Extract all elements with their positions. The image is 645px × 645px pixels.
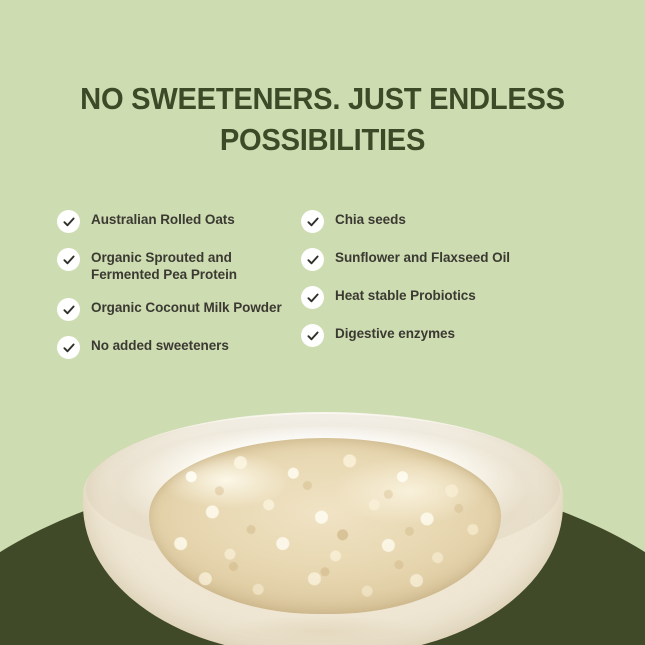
ingredients-checklist: Australian Rolled Oats Organic Sprouted … <box>0 209 645 373</box>
oat-texture-shadows <box>149 438 501 614</box>
check-icon <box>57 210 80 233</box>
list-item-label-line-2: Fermented Pea Protein <box>91 266 237 283</box>
check-icon <box>57 336 80 359</box>
list-item-label: Organic Sprouted and Fermented Pea Prote… <box>91 247 237 283</box>
list-item: Digestive enzymes <box>301 323 645 347</box>
product-feature-poster: NO SWEETENERS. JUST ENDLESS POSSIBILITIE… <box>0 0 645 645</box>
list-item-label: Sunflower and Flaxseed Oil <box>335 247 510 266</box>
list-item: Organic Sprouted and Fermented Pea Prote… <box>57 247 293 283</box>
list-item-label: No added sweeteners <box>91 335 229 354</box>
list-item-label: Digestive enzymes <box>335 323 455 342</box>
page-title: NO SWEETENERS. JUST ENDLESS POSSIBILITIE… <box>19 78 625 160</box>
list-item-label: Chia seeds <box>335 209 406 228</box>
headline-line-2: POSSIBILITIES <box>57 119 588 160</box>
list-item: Organic Coconut Milk Powder <box>57 297 293 321</box>
checklist-column-left: Australian Rolled Oats Organic Sprouted … <box>0 209 293 373</box>
list-item: Australian Rolled Oats <box>57 209 293 233</box>
check-icon <box>301 248 324 271</box>
list-item-label: Organic Coconut Milk Powder <box>91 297 282 316</box>
list-item: Sunflower and Flaxseed Oil <box>301 247 645 271</box>
list-item: Chia seeds <box>301 209 645 233</box>
check-icon <box>301 324 324 347</box>
list-item: Heat stable Probiotics <box>301 285 645 309</box>
check-icon <box>57 248 80 271</box>
list-item-label: Heat stable Probiotics <box>335 285 476 304</box>
check-icon <box>301 210 324 233</box>
headline-line-1: NO SWEETENERS. JUST ENDLESS <box>57 78 588 119</box>
list-item-label-line-1: Organic Sprouted and <box>91 249 237 266</box>
bowl-of-porridge <box>83 412 563 645</box>
list-item-label: Australian Rolled Oats <box>91 209 235 228</box>
check-icon <box>57 298 80 321</box>
list-item: No added sweeteners <box>57 335 293 359</box>
check-icon <box>301 286 324 309</box>
bowl <box>83 412 563 645</box>
checklist-column-right: Chia seeds Sunflower and Flaxseed Oil He… <box>293 209 645 361</box>
bowl-base-shading <box>187 613 459 645</box>
porridge <box>149 438 501 614</box>
